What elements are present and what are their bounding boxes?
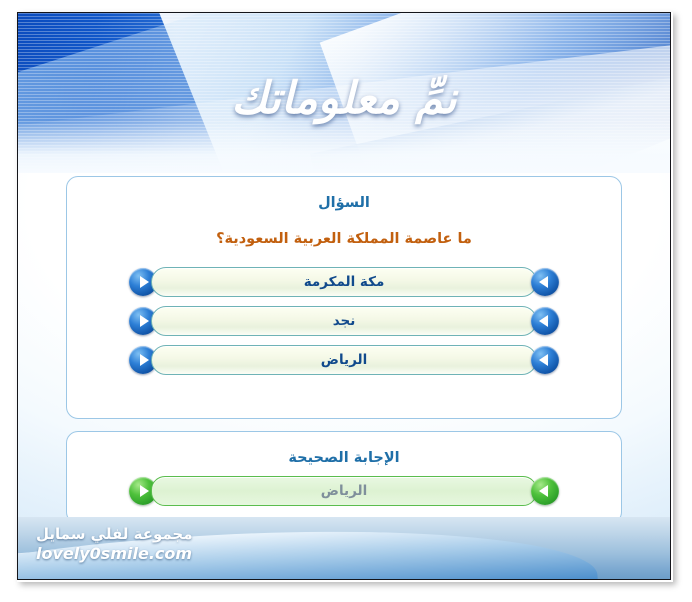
- answer-pill[interactable]: الرياض: [151, 476, 537, 506]
- footer-url-label[interactable]: lovely0smile.com: [36, 544, 193, 563]
- footer-text-block: مجموعة لفلي سمايل lovely0smile.com: [36, 525, 193, 563]
- question-text: ما عاصمة المملكة العربية السعودية؟: [67, 231, 621, 247]
- option-label: نجد: [333, 313, 356, 329]
- footer-banner: مجموعة لفلي سمايل lovely0smile.com: [18, 517, 670, 579]
- answer-label: الرياض: [321, 483, 367, 499]
- app-frame: نمِّ معلوماتك lovely0smile.com السؤال ما…: [0, 0, 692, 602]
- triangle-left-glyph: [539, 276, 548, 288]
- triangle-left-glyph: [539, 485, 548, 497]
- option-row[interactable]: نجد: [129, 306, 559, 336]
- triangle-left-glyph: [539, 354, 548, 366]
- app-window: نمِّ معلوماتك lovely0smile.com السؤال ما…: [17, 12, 671, 580]
- triangle-right-glyph: [140, 276, 149, 288]
- answer-card: الإجابة الصحيحة الرياض: [66, 431, 622, 524]
- option-pill[interactable]: نجد: [151, 306, 537, 336]
- answer-card-heading: الإجابة الصحيحة: [67, 450, 621, 466]
- triangle-left-glyph: [539, 315, 548, 327]
- play-left-icon[interactable]: [531, 346, 559, 374]
- answer-row-wrap: الرياض: [67, 476, 621, 506]
- play-left-icon[interactable]: [531, 268, 559, 296]
- question-card-heading: السؤال: [67, 195, 621, 211]
- play-left-icon[interactable]: [531, 477, 559, 505]
- option-pill[interactable]: مكة المكرمة: [151, 267, 537, 297]
- question-card: السؤال ما عاصمة المملكة العربية السعودية…: [66, 176, 622, 419]
- answer-row[interactable]: الرياض: [129, 476, 559, 506]
- triangle-right-glyph: [140, 315, 149, 327]
- option-row[interactable]: الرياض: [129, 345, 559, 375]
- triangle-right-glyph: [140, 485, 149, 497]
- header-banner: نمِّ معلوماتك: [18, 13, 670, 173]
- play-left-icon[interactable]: [531, 307, 559, 335]
- footer-arabic-label: مجموعة لفلي سمايل: [36, 525, 193, 543]
- option-row[interactable]: مكة المكرمة: [129, 267, 559, 297]
- triangle-right-glyph: [140, 354, 149, 366]
- options-list: مكة المكرمة نجد الرياض: [67, 267, 621, 375]
- option-label: مكة المكرمة: [304, 274, 385, 290]
- option-pill[interactable]: الرياض: [151, 345, 537, 375]
- option-label: الرياض: [321, 352, 367, 368]
- site-logo-title: نمِّ معلوماتك: [18, 43, 670, 153]
